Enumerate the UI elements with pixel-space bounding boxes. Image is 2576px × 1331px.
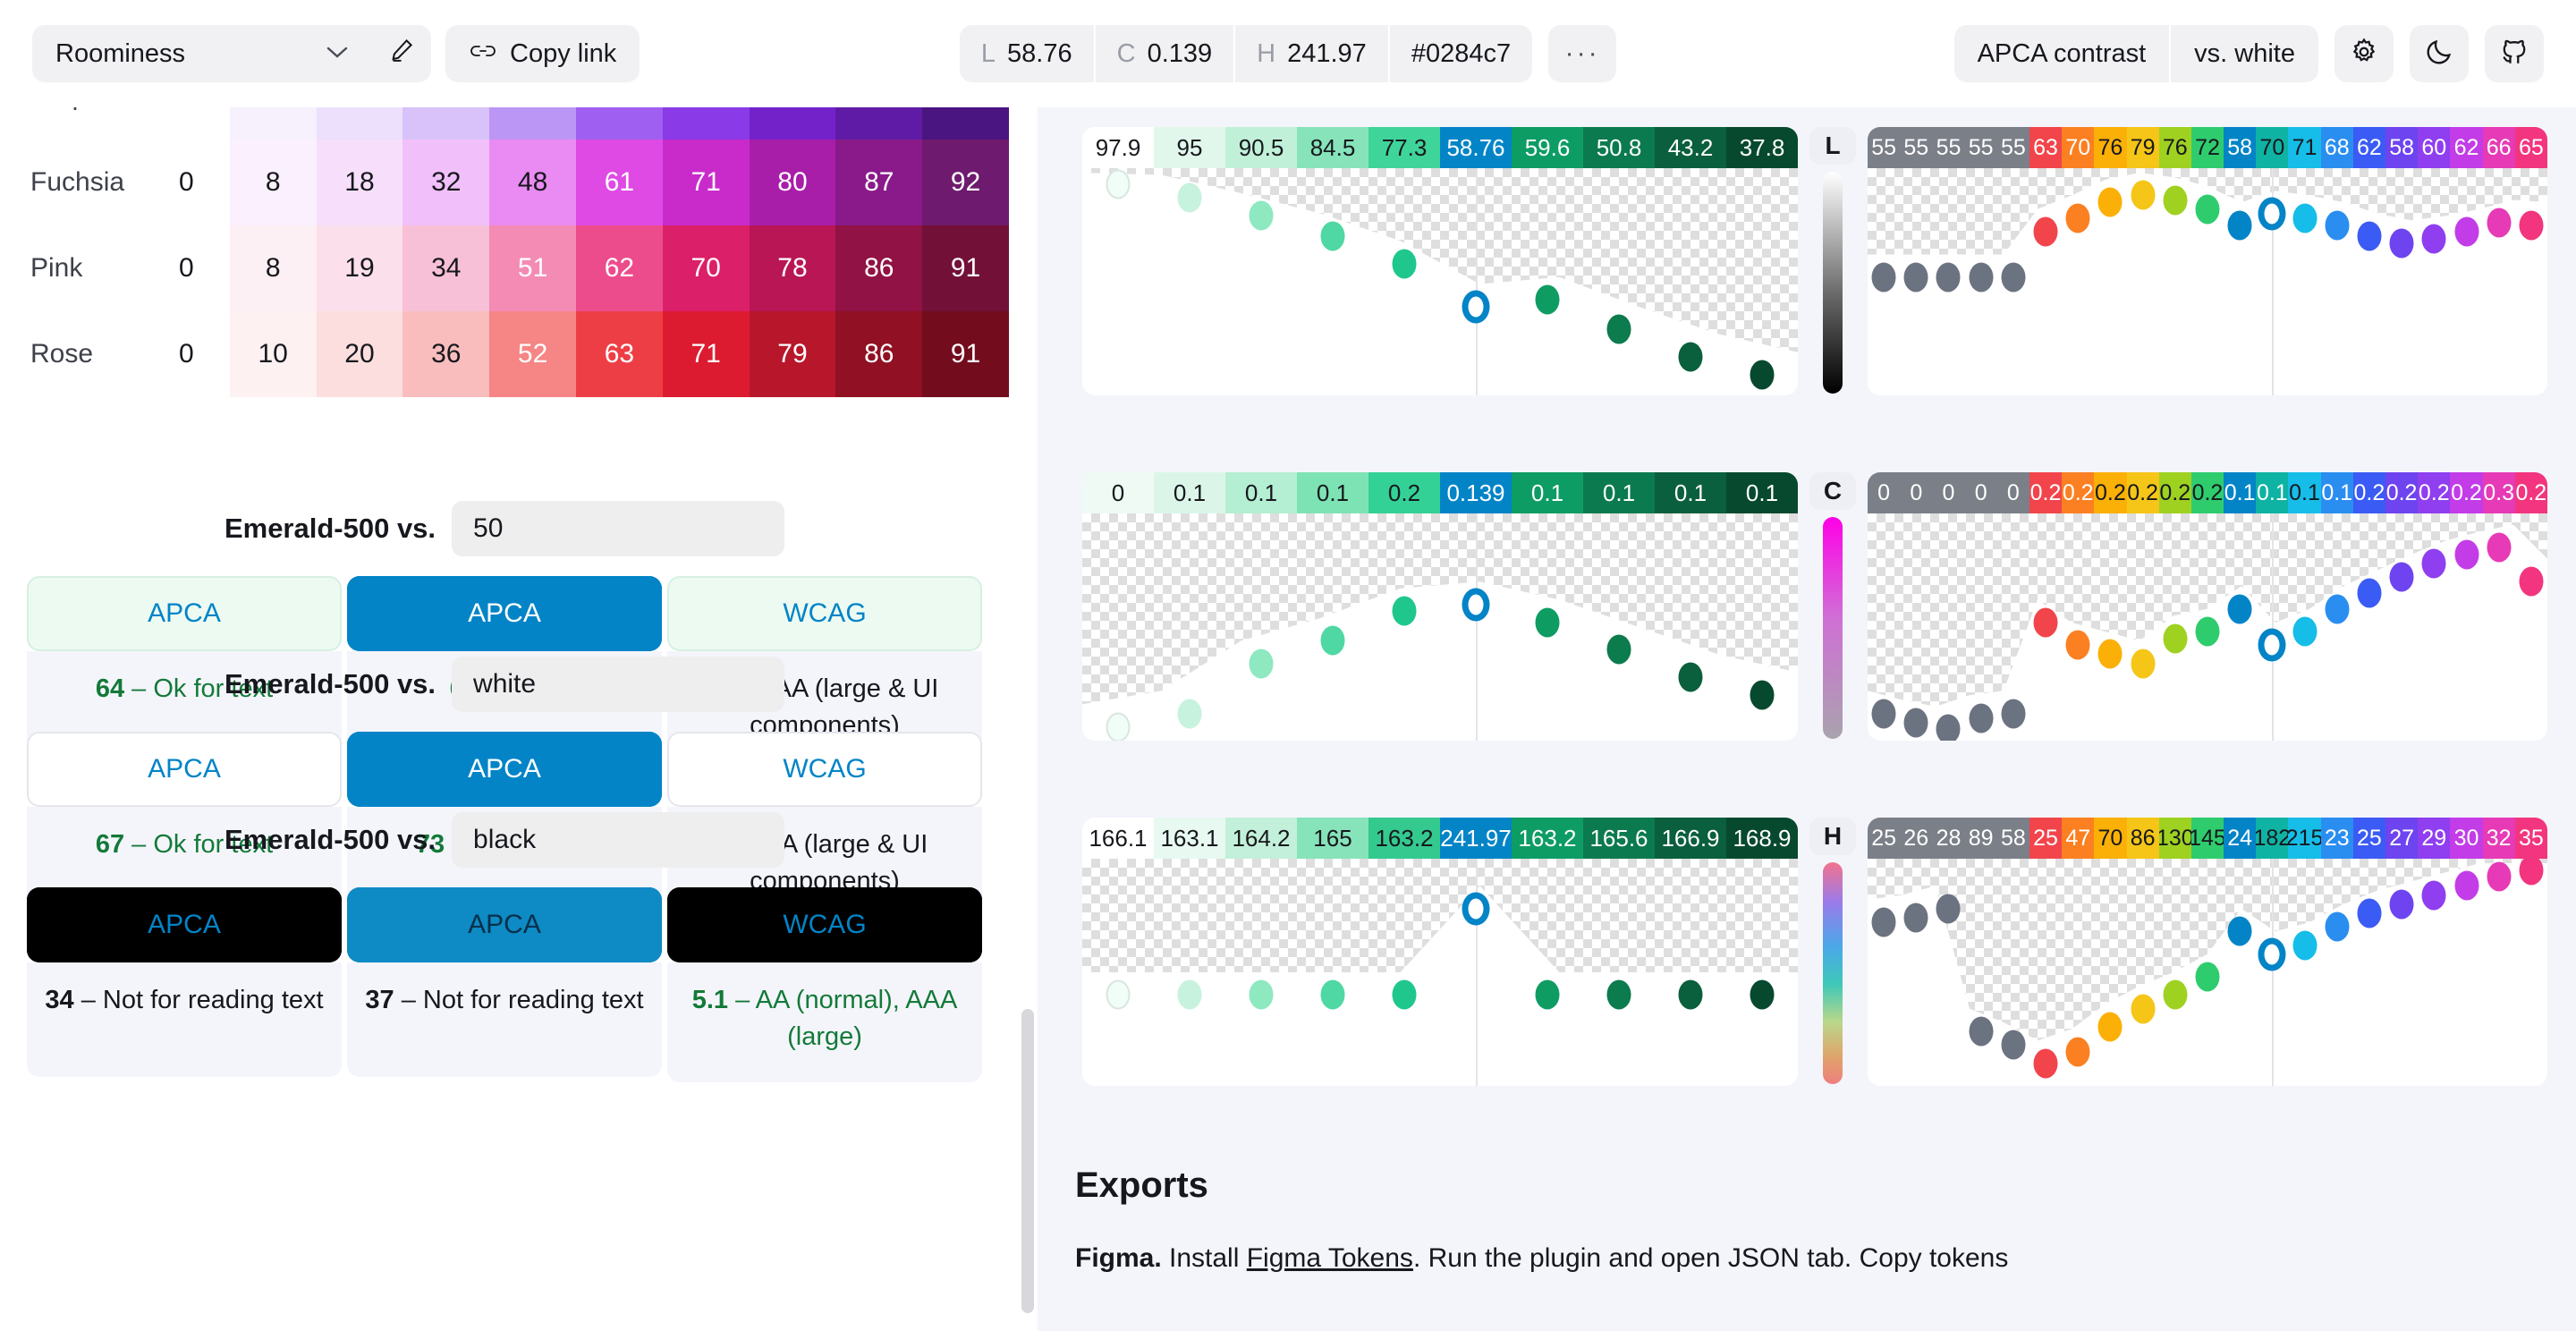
- data-point[interactable]: [1106, 980, 1131, 1010]
- data-point[interactable]: [1607, 315, 1631, 344]
- chart-value-cell[interactable]: 0.2: [2029, 472, 2062, 513]
- data-point[interactable]: [2357, 898, 2381, 928]
- chart-plot-area[interactable]: [1082, 168, 1798, 395]
- contrast-result: 37 – Not for reading text: [347, 962, 662, 1077]
- data-point[interactable]: [2131, 994, 2155, 1023]
- chart-value-cell[interactable]: 166.9: [1655, 818, 1726, 859]
- data-point[interactable]: [2098, 1012, 2123, 1041]
- comparison-header: Emerald-500 vs.: [0, 501, 1009, 556]
- chart-value-cell[interactable]: 97.9: [1082, 127, 1154, 168]
- data-point[interactable]: [1679, 342, 1703, 371]
- gamut-mask: [1082, 859, 1798, 1086]
- comparison-title: Emerald-500 vs.: [225, 513, 436, 545]
- data-point[interactable]: [2390, 889, 2414, 919]
- chart-value-cell[interactable]: 145: [2191, 818, 2224, 859]
- chart-value-cell[interactable]: 43.2: [1655, 127, 1726, 168]
- data-point[interactable]: [2519, 210, 2543, 240]
- table-row: Pink081934516270788691: [0, 225, 1009, 311]
- color-swatch-cell[interactable]: 70: [663, 225, 750, 311]
- data-point[interactable]: [2325, 210, 2349, 240]
- chart-value-cell[interactable]: 0.2: [2418, 472, 2450, 513]
- color-swatch-cell[interactable]: 71: [663, 311, 750, 397]
- chart-value-cell[interactable]: 29: [2418, 818, 2450, 859]
- data-point[interactable]: [2487, 862, 2511, 892]
- axis-label: L: [1809, 127, 1856, 165]
- color-swatch-cell[interactable]: 10: [230, 311, 317, 397]
- chart-value-cell[interactable]: 165.6: [1583, 818, 1655, 859]
- data-point[interactable]: [1607, 635, 1631, 665]
- color-swatch-cell[interactable]: 36: [402, 311, 489, 397]
- chart-value-cell[interactable]: 60: [2418, 127, 2450, 168]
- data-point[interactable]: [2001, 1030, 2025, 1060]
- axis-column: L: [1805, 127, 1860, 394]
- comparison-color-input[interactable]: [452, 812, 784, 868]
- chart-value-cell[interactable]: 70: [2062, 127, 2094, 168]
- color-swatch-cell[interactable]: 8: [230, 225, 317, 311]
- chart-value-cell[interactable]: 95: [1154, 127, 1225, 168]
- data-point[interactable]: [1936, 262, 1961, 292]
- lightness-readout[interactable]: L 58.76: [960, 25, 1094, 82]
- moon-icon: [2424, 37, 2454, 72]
- chart-value-cell[interactable]: 0.1: [1726, 472, 1798, 513]
- data-point[interactable]: [2422, 224, 2446, 253]
- data-point[interactable]: [2163, 980, 2187, 1010]
- chart-value-cell[interactable]: 70: [2256, 127, 2288, 168]
- color-swatch-cell[interactable]: 34: [402, 225, 489, 311]
- chart-value-cell[interactable]: 0: [1900, 472, 1932, 513]
- data-point[interactable]: [1178, 980, 1202, 1010]
- contrast-method-swatch[interactable]: APCA: [27, 576, 342, 651]
- chart-value-cell[interactable]: 68: [2321, 127, 2353, 168]
- chart-value-cell[interactable]: 86: [2127, 818, 2159, 859]
- chart-value-cell[interactable]: 55: [1965, 127, 1997, 168]
- chart-value-cell[interactable]: 25: [2353, 818, 2385, 859]
- data-point[interactable]: [1969, 262, 1993, 292]
- selected-data-point[interactable]: [1462, 892, 1490, 925]
- data-point[interactable]: [2034, 1048, 2058, 1078]
- chart-value-cell[interactable]: 59.6: [1512, 127, 1583, 168]
- data-point[interactable]: [2034, 217, 2058, 247]
- chart-plot-area[interactable]: [1868, 513, 2547, 741]
- color-swatch-cell[interactable]: 91: [922, 225, 1009, 311]
- data-point[interactable]: [1536, 285, 1560, 315]
- selected-color-indicator-line: [2272, 513, 2274, 741]
- color-swatch-cell[interactable]: 32: [402, 140, 489, 225]
- chart-value-cell[interactable]: 30: [2450, 818, 2482, 859]
- data-point[interactable]: [1969, 703, 1993, 733]
- chart-value-cell[interactable]: 47: [2062, 818, 2094, 859]
- color-swatch-cell[interactable]: 71: [663, 140, 750, 225]
- color-swatch-cell[interactable]: 0: [143, 140, 230, 225]
- left-panel-scrollbar[interactable]: [1021, 1009, 1034, 1313]
- comparison-cards: APCA34 – Not for reading textAPCA37 – No…: [0, 887, 1009, 1082]
- data-point[interactable]: [2487, 533, 2511, 563]
- chart-value-cell[interactable]: 24: [2224, 818, 2256, 859]
- color-swatch-cell[interactable]: 51: [489, 225, 576, 311]
- data-point[interactable]: [1872, 699, 1896, 728]
- chart-H: 166.1163.1164.2165163.2241.97163.2165.61…: [1082, 818, 1798, 1086]
- data-point[interactable]: [1178, 183, 1202, 213]
- data-point[interactable]: [1969, 1017, 1993, 1047]
- chart-value-cell[interactable]: 215: [2288, 818, 2320, 859]
- chart-value-cell[interactable]: 76: [2159, 127, 2191, 168]
- chart-value-cell[interactable]: 163.2: [1512, 818, 1583, 859]
- color-swatch-cell[interactable]: 0: [143, 225, 230, 311]
- chart-value-cell[interactable]: 0.2: [2094, 472, 2126, 513]
- exports-section: Exports Figma. Install Figma Tokens. Run…: [1075, 1166, 2506, 1278]
- contrast-target-label: vs. white: [2194, 39, 2295, 69]
- axis-gradient-bar[interactable]: [1823, 862, 1843, 1084]
- figma-label: Figma.: [1075, 1243, 1162, 1273]
- contrast-mode-button[interactable]: APCA contrast: [1954, 25, 2170, 82]
- data-point[interactable]: [2098, 640, 2123, 669]
- chart-value-cell[interactable]: 62: [2450, 127, 2482, 168]
- chart-value-cell[interactable]: 35: [2515, 818, 2547, 859]
- data-point[interactable]: [2196, 962, 2220, 992]
- comparison-color-input[interactable]: [452, 657, 784, 712]
- data-point[interactable]: [1393, 597, 1417, 626]
- color-swatch-cell[interactable]: 48: [489, 140, 576, 225]
- chart-value-cell[interactable]: 70: [2094, 818, 2126, 859]
- chart-value-cell[interactable]: 0.2: [2385, 472, 2418, 513]
- selected-color-indicator-line: [1476, 168, 1478, 395]
- chart-plot-area[interactable]: [1868, 168, 2547, 395]
- contrast-mode-label: APCA contrast: [1978, 39, 2147, 69]
- chart-value-cell[interactable]: 0.1: [2224, 472, 2256, 513]
- chart-value-cell[interactable]: 0.1: [2321, 472, 2353, 513]
- comparison-title: Emerald-500 vs.: [225, 668, 436, 700]
- lightness-label: L: [981, 39, 996, 69]
- axis-column: H: [1805, 818, 1860, 1084]
- chroma-value: 0.139: [1148, 39, 1213, 69]
- chart-value-cell[interactable]: 89: [1965, 818, 1997, 859]
- color-row-label: Pink: [0, 225, 143, 311]
- chart-value-cell[interactable]: 66: [2483, 127, 2515, 168]
- data-point[interactable]: [1936, 715, 1961, 741]
- color-swatch-cell[interactable]: 79: [750, 311, 836, 397]
- data-point[interactable]: [1936, 894, 1961, 923]
- chart-value-cell[interactable]: 163.1: [1154, 818, 1225, 859]
- data-point[interactable]: [2390, 228, 2414, 258]
- color-swatch-cell[interactable]: 87: [835, 140, 922, 225]
- chart-value-cell[interactable]: 55: [1997, 127, 2029, 168]
- data-point[interactable]: [1106, 712, 1131, 741]
- chart-value-cell[interactable]: 63: [2029, 127, 2062, 168]
- data-point[interactable]: [1750, 980, 1775, 1010]
- chart-value-cell[interactable]: 55: [1900, 127, 1932, 168]
- chart-value-cell[interactable]: 23: [2321, 818, 2353, 859]
- settings-button[interactable]: [2334, 25, 2394, 82]
- data-point[interactable]: [2292, 617, 2317, 647]
- chart-value-cell[interactable]: 0.1: [1512, 472, 1583, 513]
- color-swatch-cell[interactable]: 8: [230, 140, 317, 225]
- data-point[interactable]: [2196, 194, 2220, 224]
- color-swatch-cell[interactable]: 63: [576, 311, 663, 397]
- color-swatch-cell[interactable]: 61: [576, 140, 663, 225]
- data-point[interactable]: [2001, 699, 2025, 728]
- data-point[interactable]: [1872, 908, 1896, 937]
- data-point[interactable]: [1750, 681, 1775, 710]
- color-swatch-cell[interactable]: 52: [489, 311, 576, 397]
- contrast-method-swatch[interactable]: WCAG: [667, 732, 982, 807]
- data-point[interactable]: [2196, 617, 2220, 647]
- data-point[interactable]: [2228, 917, 2252, 946]
- chart-value-cell[interactable]: 55: [1868, 127, 1900, 168]
- data-point[interactable]: [2098, 188, 2123, 217]
- chart-value-cell[interactable]: 0.2: [2062, 472, 2094, 513]
- comparison-title: Emerald-500 vs.: [225, 824, 436, 856]
- chart-row: 97.99590.584.577.358.7659.650.843.237.8L…: [1082, 127, 2547, 395]
- chart-value-header: 2526288958254770861301452418221523252729…: [1868, 818, 2547, 859]
- contrast-method-swatch[interactable]: APCA: [347, 732, 662, 807]
- axis-label: H: [1809, 818, 1856, 855]
- data-point[interactable]: [1250, 980, 1274, 1010]
- chart-value-cell[interactable]: 76: [2094, 127, 2126, 168]
- data-point[interactable]: [2357, 578, 2381, 607]
- selected-data-point[interactable]: [2258, 197, 2286, 230]
- chart-value-cell[interactable]: 241.97: [1440, 818, 1512, 859]
- chart-value-cell[interactable]: 0.1: [1225, 472, 1297, 513]
- figma-text-before: Install: [1162, 1243, 1247, 1273]
- data-point[interactable]: [2357, 222, 2381, 251]
- color-swatch-cell[interactable]: 62: [576, 225, 663, 311]
- data-point[interactable]: [2163, 185, 2187, 215]
- data-point[interactable]: [1250, 649, 1274, 678]
- data-point[interactable]: [1393, 249, 1417, 278]
- github-link-button[interactable]: [2485, 25, 2544, 82]
- chart-value-cell[interactable]: 0.1: [1583, 472, 1655, 513]
- chart-value-cell[interactable]: 50.8: [1583, 127, 1655, 168]
- data-point[interactable]: [1106, 169, 1131, 199]
- chart-value-cell[interactable]: 0.139: [1440, 472, 1512, 513]
- axis-gradient-bar[interactable]: [1823, 517, 1843, 739]
- data-point[interactable]: [2325, 912, 2349, 942]
- chart-value-cell[interactable]: 166.1: [1082, 818, 1154, 859]
- chart-row: 166.1163.1164.2165163.2241.97163.2165.61…: [1082, 818, 2547, 1086]
- chart-value-cell[interactable]: 0.2: [2450, 472, 2482, 513]
- table-row: Rose0102036526371798691: [0, 311, 1009, 397]
- comparison-header: Emerald-500 vs.: [0, 812, 1009, 868]
- chart-value-cell[interactable]: 168.9: [1726, 818, 1798, 859]
- chart-C: 00.10.10.10.20.1390.10.10.10.1: [1082, 472, 1798, 741]
- chart-value-cell[interactable]: 0.3: [2483, 472, 2515, 513]
- chart-plot-area[interactable]: [1868, 859, 2547, 1086]
- copy-link-label: Copy link: [510, 39, 616, 69]
- data-point[interactable]: [2066, 203, 2090, 233]
- chart-value-cell[interactable]: 0: [1965, 472, 1997, 513]
- chart-value-cell[interactable]: 0: [1082, 472, 1154, 513]
- chart-value-cell[interactable]: 165: [1297, 818, 1368, 859]
- left-panel: Purple091832516676858994Fuchsia081832486…: [0, 97, 1038, 1331]
- chart-value-cell[interactable]: 0.2: [1368, 472, 1440, 513]
- contrast-target-button[interactable]: vs. white: [2171, 25, 2318, 82]
- data-point[interactable]: [2066, 1037, 2090, 1066]
- chart-value-cell[interactable]: 0.1: [1154, 472, 1225, 513]
- data-point[interactable]: [2292, 203, 2317, 233]
- chart-value-cell[interactable]: 58: [2385, 127, 2418, 168]
- chart-value-cell[interactable]: 0.2: [2159, 472, 2191, 513]
- chart-value-cell[interactable]: 163.2: [1368, 818, 1440, 859]
- contrast-verdict: – Not for reading text: [74, 986, 324, 1014]
- chart-value-cell[interactable]: 164.2: [1225, 818, 1297, 859]
- chart-value-cell[interactable]: 62: [2353, 127, 2385, 168]
- exports-heading: Exports: [1075, 1166, 2506, 1206]
- data-point[interactable]: [2228, 594, 2252, 623]
- data-point[interactable]: [2487, 208, 2511, 237]
- palette-select[interactable]: Roominess: [32, 25, 372, 82]
- comparison-card: APCA37 – Not for reading text: [347, 887, 662, 1082]
- color-swatch-cell[interactable]: 92: [922, 140, 1009, 225]
- chart-value-cell[interactable]: 0.1: [1655, 472, 1726, 513]
- chart-value-cell[interactable]: 79: [2127, 127, 2159, 168]
- comparison-header: Emerald-500 vs.: [0, 657, 1009, 712]
- contrast-method-swatch[interactable]: WCAG: [667, 576, 982, 651]
- chart-value-cell[interactable]: 0: [1868, 472, 1900, 513]
- data-point[interactable]: [1321, 626, 1345, 656]
- figma-tokens-link[interactable]: Figma Tokens: [1247, 1243, 1413, 1273]
- chart-value-cell[interactable]: 0: [1932, 472, 1964, 513]
- data-point[interactable]: [1536, 980, 1560, 1010]
- data-point[interactable]: [1679, 980, 1703, 1010]
- copy-link-button[interactable]: Copy link: [445, 25, 640, 82]
- data-point[interactable]: [2454, 217, 2479, 247]
- chart-value-cell[interactable]: 182: [2256, 818, 2288, 859]
- edit-palette-button[interactable]: [372, 25, 431, 82]
- color-swatch-cell[interactable]: 86: [835, 225, 922, 311]
- data-point[interactable]: [2131, 181, 2155, 210]
- right-toolbar: APCA contrast vs. white: [1954, 25, 2544, 82]
- data-point[interactable]: [2325, 594, 2349, 623]
- color-swatch-cell[interactable]: 20: [317, 311, 403, 397]
- chart-value-cell[interactable]: 0.2: [2353, 472, 2385, 513]
- color-swatch-cell[interactable]: 0: [143, 311, 230, 397]
- chart-value-cell[interactable]: 25: [1868, 818, 1900, 859]
- data-point[interactable]: [2390, 563, 2414, 592]
- chart-value-cell[interactable]: 77.3: [1368, 127, 1440, 168]
- color-swatch-cell[interactable]: 86: [835, 311, 922, 397]
- comparison-color-input[interactable]: [452, 501, 784, 556]
- selected-data-point[interactable]: [2258, 937, 2286, 971]
- chart-value-header: 000000.20.20.20.20.20.20.10.10.10.10.20.…: [1868, 472, 2547, 513]
- chart-value-cell[interactable]: 0.1: [1297, 472, 1368, 513]
- hex-readout[interactable]: #0284c7: [1390, 25, 1532, 82]
- data-point[interactable]: [1178, 699, 1202, 728]
- chart-L: 97.99590.584.577.358.7659.650.843.237.8: [1082, 127, 1798, 395]
- figma-export-text: Figma. Install Figma Tokens. Run the plu…: [1075, 1238, 2506, 1278]
- data-point[interactable]: [2454, 871, 2479, 901]
- data-point[interactable]: [2034, 607, 2058, 637]
- chart-H-hues: 2526288958254770861301452418221523252729…: [1868, 818, 2547, 1086]
- contrast-method-swatch[interactable]: APCA: [27, 732, 342, 807]
- chart-value-cell[interactable]: 26: [1900, 818, 1932, 859]
- data-point[interactable]: [1607, 980, 1631, 1010]
- data-point[interactable]: [1536, 607, 1560, 637]
- data-point[interactable]: [2519, 567, 2543, 597]
- comparison-block: Emerald-500 vs.APCA34 – Not for reading …: [0, 812, 1009, 1082]
- data-point[interactable]: [2519, 855, 2543, 885]
- chart-value-cell[interactable]: 55: [1932, 127, 1964, 168]
- data-point[interactable]: [1904, 903, 1928, 933]
- chart-value-cell[interactable]: 90.5: [1225, 127, 1297, 168]
- more-options-button[interactable]: ···: [1548, 25, 1616, 82]
- data-point[interactable]: [1904, 708, 1928, 737]
- chart-value-cell[interactable]: 58: [1997, 818, 2029, 859]
- data-point[interactable]: [1250, 201, 1274, 231]
- hue-readout[interactable]: H 241.97: [1235, 25, 1388, 82]
- chevron-down-icon: [326, 41, 349, 66]
- data-point[interactable]: [1321, 980, 1345, 1010]
- data-point[interactable]: [1904, 262, 1928, 292]
- chart-value-cell[interactable]: 25: [2029, 818, 2062, 859]
- selected-data-point[interactable]: [2258, 629, 2286, 662]
- chroma-readout[interactable]: C 0.139: [1096, 25, 1234, 82]
- color-swatch-cell[interactable]: 91: [922, 311, 1009, 397]
- chart-value-cell[interactable]: 37.8: [1726, 127, 1798, 168]
- data-point[interactable]: [2163, 623, 2187, 653]
- color-swatch-cell[interactable]: 78: [750, 225, 836, 311]
- chart-value-cell[interactable]: 0.2: [2191, 472, 2224, 513]
- chart-value-cell[interactable]: 58.76: [1440, 127, 1512, 168]
- chart-value-cell[interactable]: 28: [1932, 818, 1964, 859]
- data-point[interactable]: [2131, 649, 2155, 678]
- theme-toggle-button[interactable]: [2410, 25, 2469, 82]
- data-point[interactable]: [1679, 662, 1703, 691]
- chart-value-cell[interactable]: 65: [2515, 127, 2547, 168]
- data-point[interactable]: [1321, 222, 1345, 251]
- chart-value-cell[interactable]: 27: [2385, 818, 2418, 859]
- chart-plot-area[interactable]: [1082, 859, 1798, 1086]
- color-swatch-cell[interactable]: 18: [317, 140, 403, 225]
- selected-data-point[interactable]: [1462, 290, 1490, 323]
- contrast-method-swatch[interactable]: APCA: [347, 887, 662, 962]
- chart-value-cell[interactable]: 0.1: [2288, 472, 2320, 513]
- axis-gradient-bar[interactable]: [1823, 172, 1843, 394]
- data-point[interactable]: [1393, 980, 1417, 1010]
- lch-readout: L 58.76 C 0.139 H 241.97 #0284c7 ···: [960, 25, 1616, 82]
- chart-value-cell[interactable]: 0.2: [2127, 472, 2159, 513]
- data-point[interactable]: [1872, 262, 1896, 292]
- chart-value-cell[interactable]: 84.5: [1297, 127, 1368, 168]
- color-swatch-cell[interactable]: 80: [750, 140, 836, 225]
- data-point[interactable]: [2454, 539, 2479, 569]
- chart-value-cell[interactable]: 0: [1997, 472, 2029, 513]
- chart-value-cell[interactable]: 71: [2288, 127, 2320, 168]
- data-point[interactable]: [2422, 880, 2446, 910]
- chart-value-cell[interactable]: 0.2: [2515, 472, 2547, 513]
- data-point[interactable]: [1750, 360, 1775, 390]
- contrast-result: 5.1 – AA (normal), AAA (large): [667, 962, 982, 1082]
- data-point[interactable]: [2001, 262, 2025, 292]
- hue-label: H: [1257, 39, 1275, 69]
- data-point[interactable]: [2422, 548, 2446, 578]
- selected-data-point[interactable]: [1462, 588, 1490, 621]
- data-point[interactable]: [2228, 210, 2252, 240]
- chart-value-cell[interactable]: 58: [2224, 127, 2256, 168]
- chart-value-cell[interactable]: 0.1: [2256, 472, 2288, 513]
- contrast-method-swatch[interactable]: WCAG: [667, 887, 982, 962]
- chart-value-cell[interactable]: 72: [2191, 127, 2224, 168]
- chart-value-cell[interactable]: 130: [2159, 818, 2191, 859]
- chart-value-header: 166.1163.1164.2165163.2241.97163.2165.61…: [1082, 818, 1798, 859]
- link-icon: [469, 39, 497, 69]
- contrast-method-swatch[interactable]: APCA: [27, 887, 342, 962]
- color-swatch-cell[interactable]: 19: [317, 225, 403, 311]
- chart-plot-area[interactable]: [1082, 513, 1798, 741]
- data-point[interactable]: [2292, 930, 2317, 960]
- contrast-method-swatch[interactable]: APCA: [347, 576, 662, 651]
- data-point[interactable]: [2066, 631, 2090, 660]
- chart-value-cell[interactable]: 32: [2483, 818, 2515, 859]
